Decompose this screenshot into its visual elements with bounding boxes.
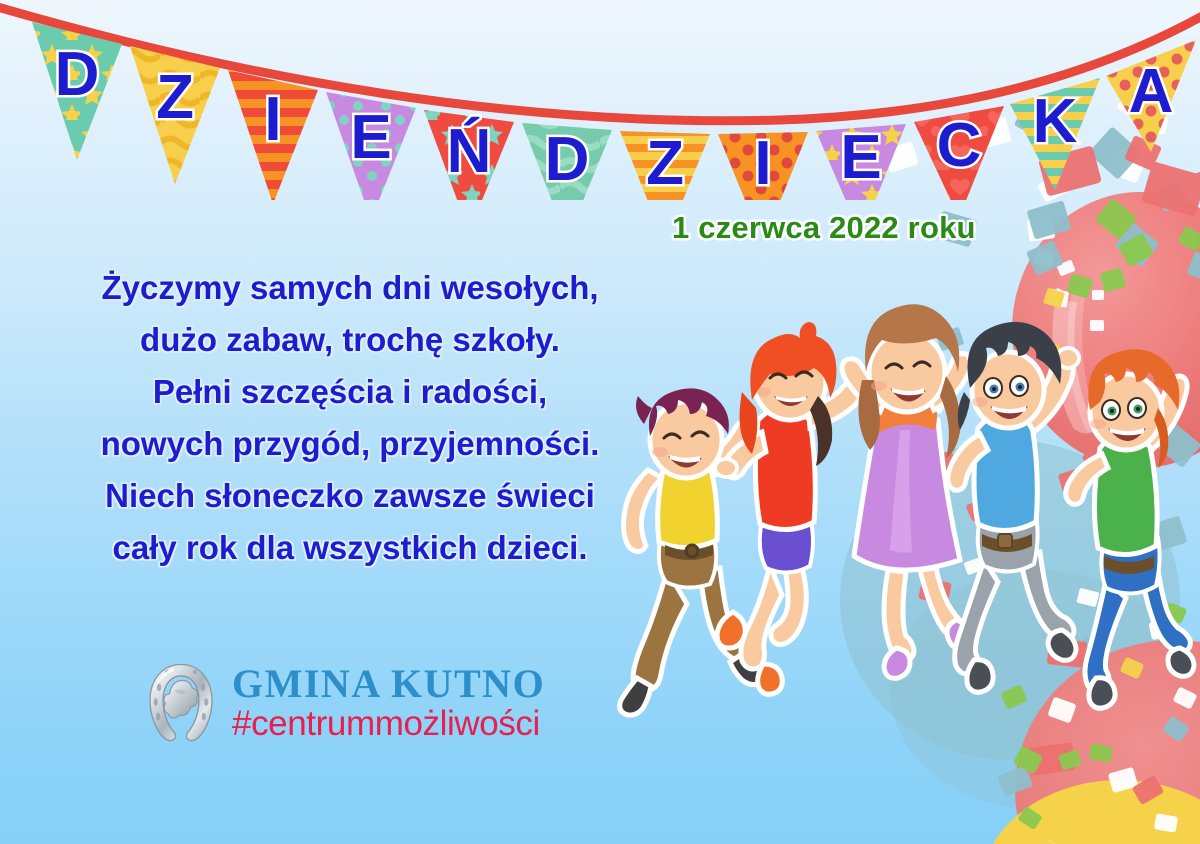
bunting-banner: D Z I E Ń D Z I E C K A	[0, 0, 1200, 200]
flag-letter-3: I	[264, 85, 281, 154]
poem-line-2: dużo zabaw, trochę szkoły.	[60, 314, 640, 366]
flag-letter-7: Z	[646, 129, 684, 198]
flag-letter-10: C	[937, 111, 982, 180]
poem-line-5: Niech słoneczko zawsze świeci	[60, 470, 640, 522]
child-boy-green-shirt	[1066, 349, 1194, 708]
pink-balloon-large	[1012, 192, 1200, 468]
gmina-kutno-logo[interactable]: GMINA KUTNO #centrummożliwości	[140, 658, 545, 746]
flag-letter-2: Z	[156, 63, 194, 132]
flag-letter-1: D	[55, 40, 100, 109]
horseshoe-icon	[140, 658, 222, 746]
poem-line-4: nowych przygód, przyjemności.	[60, 418, 640, 470]
pink-balloon-corner	[1015, 640, 1200, 844]
child-girl-purple-dress	[842, 304, 974, 678]
dzien-dziecka-poster: D Z I E Ń D Z I E C K A 1 czerwca 2022 r…	[0, 0, 1200, 844]
child-boy-blue-shirt	[948, 322, 1079, 692]
flag-letter-5: Ń	[447, 117, 492, 186]
flag-letter-6: D	[545, 125, 590, 194]
logo-title: GMINA KUTNO	[232, 664, 545, 704]
poem-line-6: cały rok dla wszystkich dzieci.	[60, 522, 640, 574]
logo-tagline: #centrummożliwości	[232, 706, 545, 741]
greeting-poem: Życzymy samych dni wesołych, dużo zabaw,…	[60, 262, 640, 574]
flag-letter-12: A	[1129, 57, 1174, 126]
yellow-balloon	[980, 780, 1200, 844]
poem-line-1: Życzymy samych dni wesołych,	[60, 262, 640, 314]
flag-letter-4: E	[350, 103, 391, 172]
gray-circle-decoration	[840, 440, 1180, 760]
flag-letter-9: E	[840, 123, 881, 192]
logo-text-block: GMINA KUTNO #centrummożliwości	[232, 664, 545, 741]
poem-line-3: Pełni szczęścia i radości,	[60, 366, 640, 418]
confetti	[883, 89, 1200, 833]
event-date: 1 czerwca 2022 roku	[672, 210, 976, 246]
child-boy-yellow-shirt	[620, 388, 767, 715]
flag-letter-8: I	[754, 129, 771, 198]
flag-letter-11: K	[1033, 87, 1078, 156]
child-girl-red-shirt	[715, 322, 862, 694]
